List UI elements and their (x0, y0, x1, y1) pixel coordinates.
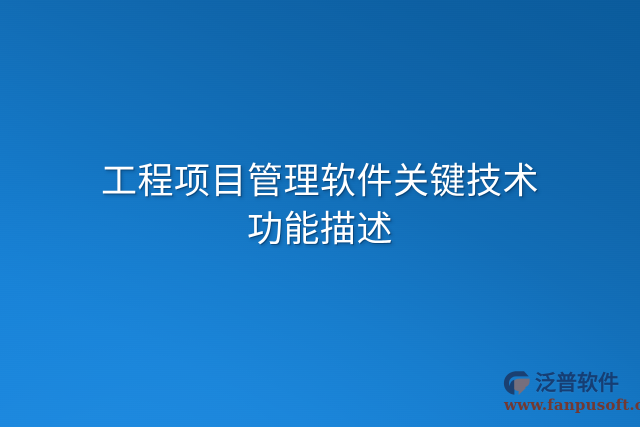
fanpu-logo-icon (503, 370, 531, 396)
title-line-2: 功能描述 (0, 212, 640, 248)
watermark-brand-text: 泛普软件 (535, 370, 619, 396)
title-line-1: 工程项目管理软件关键技术 (0, 164, 640, 200)
background-banding (0, 0, 640, 427)
watermark: 泛普软件 www.fanpusoft.com (503, 368, 640, 418)
slide-title: 工程项目管理软件关键技术 功能描述 (0, 164, 640, 248)
watermark-url-text: www.fanpusoft.com (504, 397, 640, 414)
watermark-brand-row: 泛普软件 (503, 368, 640, 398)
slide-canvas: 工程项目管理软件关键技术 功能描述 泛普软件 www.fanpusoft.com (0, 0, 640, 427)
background-sheen (0, 0, 640, 427)
